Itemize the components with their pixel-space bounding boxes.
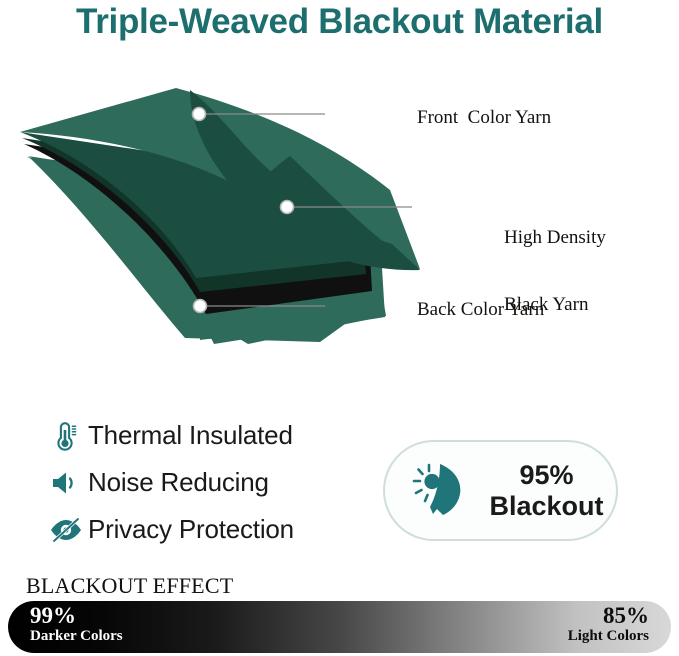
eye-slash-icon <box>44 516 88 544</box>
blackout-label: Blackout <box>489 491 603 521</box>
feature-label-noise-reducing: Noise Reducing <box>88 467 269 498</box>
feature-label-thermal-insulated: Thermal Insulated <box>88 420 293 451</box>
blackout-badge-text: 95% Blackout <box>487 460 616 520</box>
blackout-badge: 95% Blackout <box>383 440 618 541</box>
gradient-left-caption: Darker Colors <box>30 628 123 645</box>
feature-item-noise-reducing: Noise Reducing <box>44 459 374 506</box>
blackout-effect-heading: BLACKOUT EFFECT <box>26 573 233 599</box>
feature-item-privacy-protection: Privacy Protection <box>44 506 374 553</box>
gradient-right-caption: Light Colors <box>568 628 649 645</box>
feature-list: Thermal Insulated Noise Reducing Privacy… <box>44 412 374 553</box>
gradient-right-legend: 85% Light Colors <box>568 604 649 645</box>
feature-item-thermal-insulated: Thermal Insulated <box>44 412 374 459</box>
gradient-left-percent: 99% <box>30 604 123 628</box>
sun-behind-curtain-icon <box>385 460 487 522</box>
label-back-color-yarn: Back Color Yarn <box>417 299 544 321</box>
page-title: Triple-Weaved Blackout Material <box>0 2 679 42</box>
callout-dot-icon-back <box>194 300 207 313</box>
gradient-left-legend: 99% Darker Colors <box>30 604 123 645</box>
callout-dot-icon-black <box>281 201 294 214</box>
gradient-right-percent: 85% <box>568 604 649 628</box>
speaker-sound-icon <box>44 469 88 497</box>
label-high-density-line1: High Density <box>504 227 606 249</box>
feature-label-privacy-protection: Privacy Protection <box>88 514 294 545</box>
label-front-color-yarn: Front Color Yarn <box>417 107 551 129</box>
thermometer-icon <box>44 420 88 452</box>
callout-dot-icon-front <box>193 108 206 121</box>
blackout-percent: 95% <box>519 460 573 490</box>
